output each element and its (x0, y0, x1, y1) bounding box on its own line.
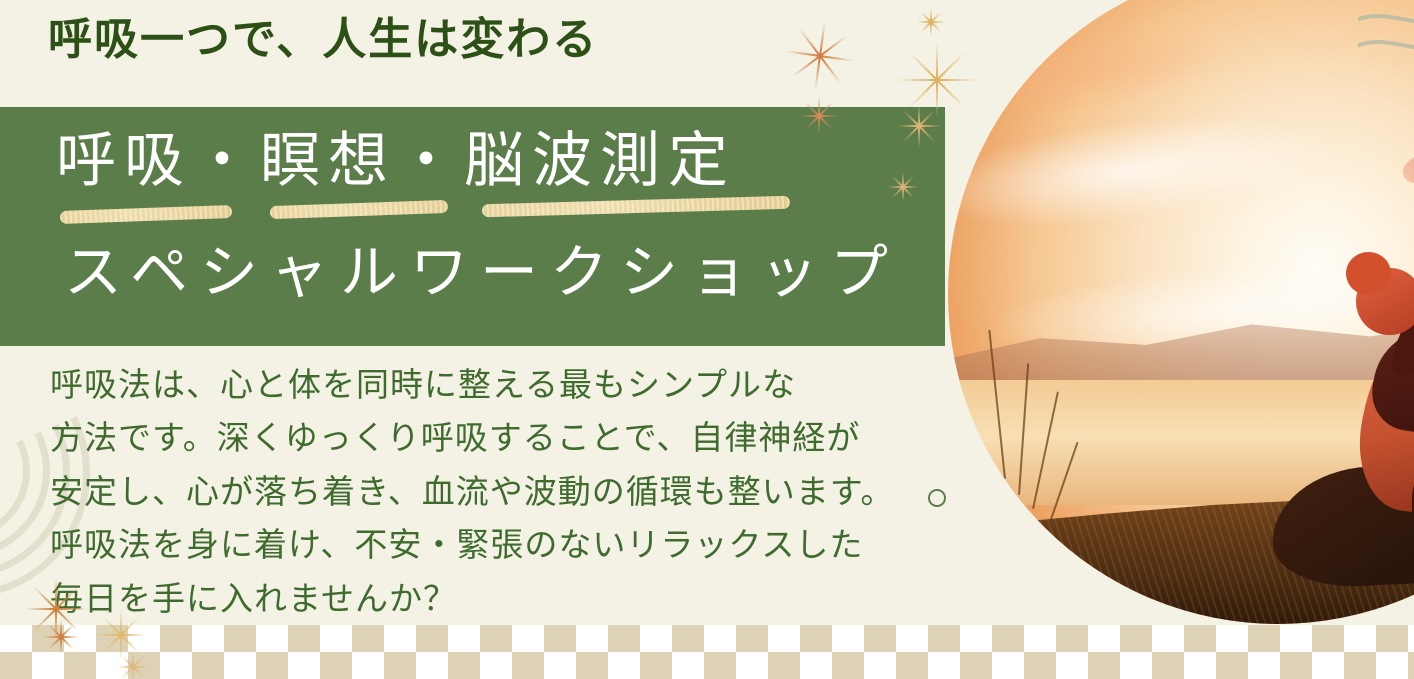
sparkle-orange-small-icon (800, 97, 838, 135)
workshop-banner: 呼吸一つで、人生は変わる 呼吸・瞑想・脳波測定 スペシャルワークショップ 呼吸法… (0, 0, 1414, 679)
checkerboard-icon (0, 625, 1414, 679)
body-line: 毎日を手に入れませんか？ (50, 572, 960, 625)
body-line: 方法です。深くゆっくり呼吸することで、自律神経が (50, 411, 960, 464)
band-headline-primary: 呼吸・瞑想・脳波測定 (56, 128, 736, 195)
sparkle-orange-large-icon (782, 18, 859, 95)
sparkle-gold-band-2-icon (888, 172, 918, 202)
yoga-sunset-photo (948, 0, 1414, 624)
sparkle-orange-bottom-tiny-icon (44, 620, 78, 654)
figure-hair-bun (1346, 252, 1391, 296)
body-line: 呼吸法を身に着け、不安・緊張のないリラックスした (50, 518, 960, 571)
sparkle-gold-tiny-icon (917, 8, 945, 36)
page-title: 呼吸一つで、人生は変わる (48, 14, 598, 67)
body-description: 呼吸法は、心と体を同時に整える最もシンプルな方法です。深くゆっくり呼吸することで… (50, 358, 960, 625)
sparkle-gold-band-icon (897, 104, 941, 148)
sparkle-gold-bottom-2-icon (118, 652, 148, 679)
body-line: 呼吸法は、心と体を同時に整える最もシンプルな (50, 358, 960, 411)
body-line: 安定し、心が落ち着き、血流や波動の循環も整います。 (50, 465, 960, 518)
wave-lines-icon (1358, 0, 1414, 68)
band-headline-secondary: スペシャルワークショップ (64, 240, 900, 305)
